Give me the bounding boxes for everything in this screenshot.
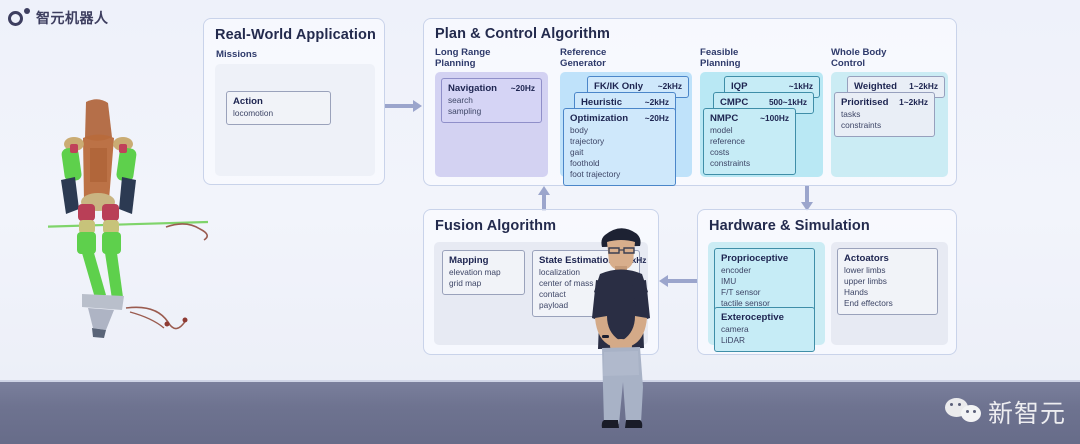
card-freq-nmpc: ~100Hz	[760, 113, 789, 123]
column-long-range-planning: Navigation ~20Hz search sampling	[435, 72, 548, 177]
arrow-hardware-to-fusion	[659, 275, 697, 287]
panel-title-fusion: Fusion Algorithm	[435, 218, 556, 234]
card-mapping[interactable]: Mapping elevation map grid map	[442, 250, 525, 295]
agibot-logo-icon	[8, 8, 30, 28]
subhead-whole-body-control: Whole Body Control	[831, 47, 886, 69]
panel-title-real-world: Real-World Application	[215, 27, 376, 43]
card-title-iqp: IQP	[731, 81, 748, 92]
panel-real-world-application: Real-World Application Missions Action l…	[203, 18, 385, 185]
arrow-real-world-to-plan	[385, 100, 423, 112]
presenter-standing	[578, 222, 664, 428]
card-exteroceptive[interactable]: Exteroceptive camera LiDAR	[714, 307, 815, 352]
card-items-actuators: lower limbs upper limbs Hands End effect…	[844, 265, 931, 309]
card-title-optimization: Optimization	[570, 113, 628, 124]
panel-hardware-simulation: Hardware & Simulation Proprioceptive enc…	[697, 209, 957, 355]
arrow-hardware-to-plan	[801, 186, 813, 211]
column-whole-body-control: Weighted 1~2kHz Prioritised 1~2kHz tasks…	[831, 72, 948, 177]
slide-stage: 智元机器人	[0, 0, 1080, 444]
subhead-feasible-planning: Feasible Planning	[700, 47, 741, 69]
card-title-exteroceptive: Exteroceptive	[721, 312, 784, 323]
card-freq-prioritised: 1~2kHz	[899, 97, 928, 107]
card-title-action: Action	[233, 96, 263, 107]
card-items-optimization: body trajectory gait foothold foot traje…	[570, 125, 669, 180]
card-nmpc[interactable]: NMPC ~100Hz model reference costs constr…	[703, 108, 796, 175]
column-feasible-planning: IQP ~1kHz CMPC 500~1kHz NMPC ~100Hz mode…	[700, 72, 823, 177]
card-action[interactable]: Action locomotion	[226, 91, 331, 125]
card-items-nmpc: model reference costs constraints	[710, 125, 789, 169]
column-reference-generator: FK/IK Only ~2kHz Heuristic ~2kHz Optimiz…	[560, 72, 692, 177]
card-title-mapping: Mapping	[449, 255, 488, 266]
card-items-action: locomotion	[233, 108, 324, 119]
card-title-prioritised: Prioritised	[841, 97, 888, 108]
card-items-navigation: search sampling	[448, 95, 535, 117]
card-items-exteroceptive: camera LiDAR	[721, 324, 808, 346]
card-title-actuators: Actoators	[844, 253, 889, 264]
humanoid-robot-render	[48, 96, 208, 346]
card-items-proprioceptive: encoder IMU F/T sensor tactile sensor	[721, 265, 808, 309]
card-navigation[interactable]: Navigation ~20Hz search sampling	[441, 78, 542, 123]
card-title-navigation: Navigation	[448, 83, 497, 94]
card-items-mapping: elevation map grid map	[449, 267, 518, 289]
card-freq-iqp: ~1kHz	[789, 81, 813, 91]
column-actuators: Actoators lower limbs upper limbs Hands …	[831, 242, 948, 345]
card-freq-weighted: 1~2kHz	[909, 81, 938, 91]
wechat-icon	[945, 398, 981, 426]
card-proprioceptive[interactable]: Proprioceptive encoder IMU F/T sensor ta…	[714, 248, 815, 315]
stage-floor	[0, 382, 1080, 444]
card-title-nmpc: NMPC	[710, 113, 738, 124]
subhead-reference-generator: Reference Generator	[560, 47, 606, 69]
card-optimization[interactable]: Optimization ~20Hz body trajectory gait …	[563, 108, 676, 186]
card-title-proprioceptive: Proprioceptive	[721, 253, 788, 264]
panel-title-hardware: Hardware & Simulation	[709, 218, 870, 234]
column-missions: Action locomotion	[215, 64, 375, 176]
card-freq-cmpc: 500~1kHz	[769, 97, 807, 107]
brand-name: 智元机器人	[36, 8, 109, 28]
subhead-long-range-planning: Long Range Planning	[435, 47, 490, 69]
card-freq-navigation: ~20Hz	[511, 83, 535, 93]
card-actuators[interactable]: Actoators lower limbs upper limbs Hands …	[837, 248, 938, 315]
card-items-prioritised: tasks constraints	[841, 109, 928, 131]
brand-logo: 智元机器人	[8, 8, 109, 28]
column-sensors: Proprioceptive encoder IMU F/T sensor ta…	[708, 242, 825, 345]
card-prioritised[interactable]: Prioritised 1~2kHz tasks constraints	[834, 92, 935, 137]
watermark-text: 新智元	[988, 394, 1066, 430]
wechat-watermark: 新智元	[945, 394, 1066, 430]
card-title-heuristic: Heuristic	[581, 97, 622, 108]
panel-plan-control-algorithm: Plan & Control Algorithm Long Range Plan…	[423, 18, 957, 186]
card-freq-heuristic: ~2kHz	[645, 97, 669, 107]
card-title-fk-ik-only: FK/IK Only	[594, 81, 643, 92]
subhead-missions: Missions	[216, 49, 257, 60]
card-title-weighted: Weighted	[854, 81, 897, 92]
arrow-fusion-to-plan	[538, 186, 550, 211]
panel-title-plan-control: Plan & Control Algorithm	[435, 26, 610, 42]
card-freq-fk-ik-only: ~2kHz	[658, 81, 682, 91]
card-freq-optimization: ~20Hz	[645, 113, 669, 123]
card-title-cmpc: CMPC	[720, 97, 748, 108]
